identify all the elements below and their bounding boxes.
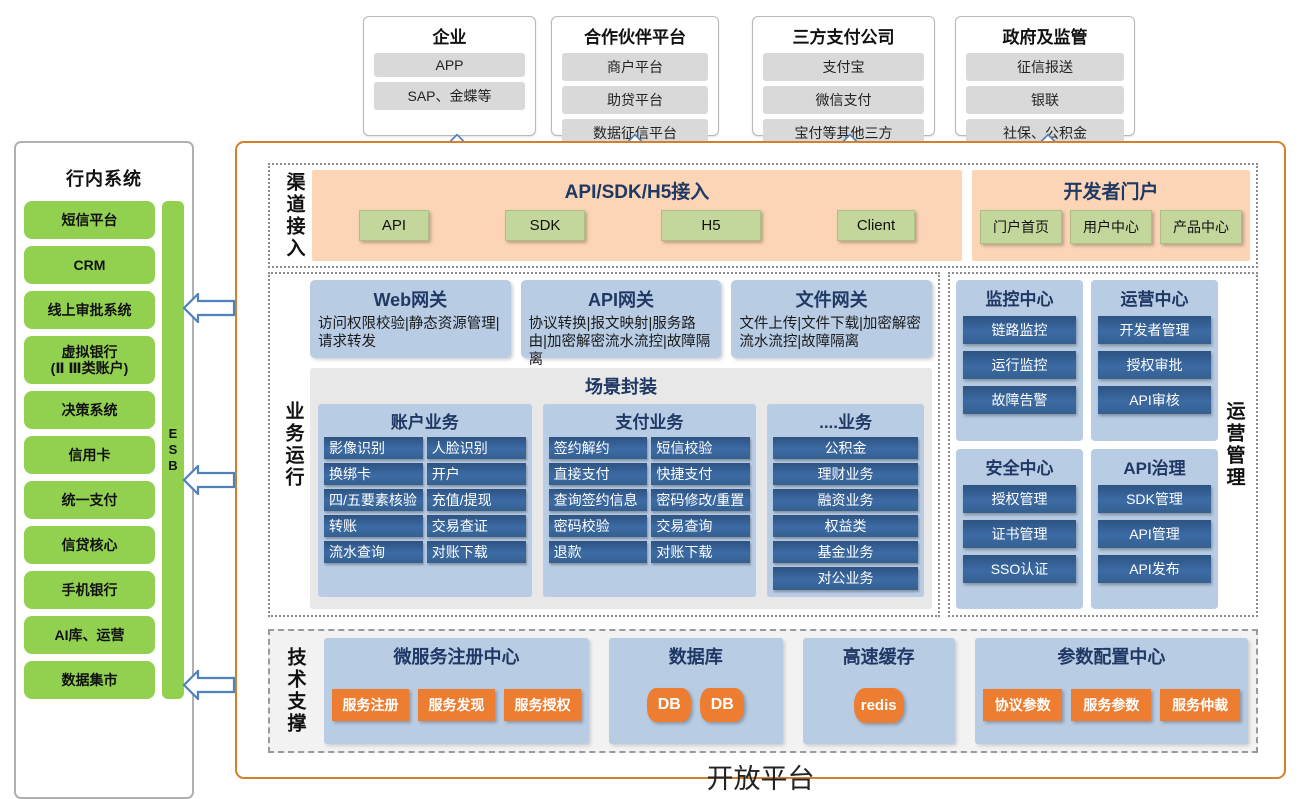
- database-pill-1-0[interactable]: DB: [647, 688, 691, 722]
- portal-chip-2[interactable]: 产品中心: [1160, 210, 1242, 244]
- business-chip-0-0[interactable]: 影像识别: [324, 437, 423, 459]
- external-title-2: 三方支付公司: [763, 23, 924, 48]
- operations-chip-1-0[interactable]: 开发者管理: [1098, 316, 1211, 344]
- tech-card-title-0: 微服务注册中心: [332, 643, 581, 669]
- sidebar-item-6[interactable]: 统一支付: [24, 481, 155, 519]
- business-chip-0-4[interactable]: 四/五要素核验: [324, 489, 423, 511]
- external-item-3-0[interactable]: 征信报送: [966, 53, 1124, 81]
- esb-platform-arrow-1: [182, 293, 236, 323]
- business-card-0[interactable]: 账户业务影像识别人脸识别换绑卡开户四/五要素核验充值/提现转账交易查证流水查询对…: [318, 404, 532, 597]
- business-chip-2-0[interactable]: 公积金: [773, 437, 918, 459]
- channel-chip-sdk[interactable]: SDK: [505, 210, 585, 241]
- operations-management-label: 运营管理: [1225, 401, 1244, 489]
- external-item-1-0[interactable]: 商户平台: [562, 53, 708, 81]
- tech-chip-row-2: redis: [811, 675, 947, 735]
- gateway-card-1[interactable]: API网关协议转换|报文映射|服务路由|加密解密流水流控|故障隔离: [521, 280, 722, 358]
- business-chip-0-3[interactable]: 开户: [427, 463, 526, 485]
- tech-chip-3-2[interactable]: 服务仲裁: [1160, 689, 1240, 721]
- sidebar-title: 行内系统: [16, 165, 192, 191]
- redis-pill-2-0[interactable]: redis: [854, 688, 904, 723]
- gateway-card-0[interactable]: Web网关访问权限校验|静态资源管理|请求转发: [310, 280, 511, 358]
- tech-card-title-2: 高速缓存: [811, 643, 947, 669]
- gateway-title-0: Web网关: [318, 286, 503, 312]
- platform-title: 开放平台: [235, 757, 1286, 796]
- operations-chip-2-1[interactable]: 证书管理: [963, 520, 1076, 548]
- business-chip-1-6[interactable]: 密码校验: [549, 515, 648, 537]
- business-card-title-1: 支付业务: [549, 408, 751, 433]
- operations-chip-0-1[interactable]: 运行监控: [963, 351, 1076, 379]
- esb-letter: S: [169, 442, 178, 458]
- technical-support-section: 技术支撑 微服务注册中心服务注册服务发现服务授权数据库DBDB高速缓存redis…: [268, 629, 1258, 753]
- esb-platform-arrow-3: [182, 670, 236, 700]
- tech-chip-0-2[interactable]: 服务授权: [504, 689, 581, 721]
- operations-card-2[interactable]: 安全中心授权管理证书管理SSO认证: [956, 449, 1083, 610]
- business-chip-1-2[interactable]: 直接支付: [549, 463, 648, 485]
- operations-card-title-2: 安全中心: [963, 454, 1076, 479]
- gateway-card-2[interactable]: 文件网关文件上传|文件下载|加密解密流水流控|故障隔离: [731, 280, 932, 358]
- internal-systems-sidebar: 行内系统 短信平台CRM线上审批系统虚拟银行(Ⅱ Ⅲ类账户)决策系统信用卡统一支…: [14, 141, 194, 799]
- gateway-row: Web网关访问权限校验|静态资源管理|请求转发API网关协议转换|报文映射|服务…: [310, 280, 932, 358]
- operations-card-0[interactable]: 监控中心链路监控运行监控故障告警: [956, 280, 1083, 441]
- sidebar-item-3[interactable]: 虚拟银行(Ⅱ Ⅲ类账户): [24, 336, 155, 384]
- business-chip-2-1[interactable]: 理财业务: [773, 463, 918, 485]
- operations-card-title-0: 监控中心: [963, 285, 1076, 310]
- business-chip-1-1[interactable]: 短信校验: [651, 437, 750, 459]
- operations-chip-1-2[interactable]: API审核: [1098, 386, 1211, 414]
- channel-chip-h5[interactable]: H5: [661, 210, 761, 241]
- business-chip-2-5[interactable]: 对公业务: [773, 567, 918, 589]
- channel-chip-api[interactable]: API: [359, 210, 429, 241]
- operations-card-1[interactable]: 运营中心开发者管理授权审批API审核: [1091, 280, 1218, 441]
- tech-chip-3-1[interactable]: 服务参数: [1071, 689, 1151, 721]
- api-sdk-h5-access-panel: API/SDK/H5接入 APISDKH5Client: [312, 170, 962, 261]
- tech-card-1[interactable]: 数据库DBDB: [609, 638, 783, 744]
- channel-access-section: 渠道接入 API/SDK/H5接入 APISDKH5Client 开发者门户 门…: [268, 163, 1258, 268]
- business-card-title-0: 账户业务: [324, 408, 526, 433]
- business-chip-0-5[interactable]: 充值/提现: [427, 489, 526, 511]
- business-chip-1-3[interactable]: 快捷支付: [651, 463, 750, 485]
- channel-chip-client[interactable]: Client: [837, 210, 915, 241]
- sidebar-item-8[interactable]: 手机银行: [24, 571, 155, 609]
- esb-bus: ESB: [162, 201, 184, 699]
- sidebar-item-1[interactable]: CRM: [24, 246, 155, 284]
- tech-card-0[interactable]: 微服务注册中心服务注册服务发现服务授权: [324, 638, 589, 744]
- external-item-3-1[interactable]: 银联: [966, 86, 1124, 114]
- business-chip-0-9[interactable]: 对账下载: [427, 541, 526, 563]
- operations-chip-1-1[interactable]: 授权审批: [1098, 351, 1211, 379]
- business-chip-0-7[interactable]: 交易查证: [427, 515, 526, 537]
- sidebar-item-9[interactable]: AI库、运营: [24, 616, 155, 654]
- tech-chip-row-1: DBDB: [617, 675, 775, 735]
- business-chip-0-1[interactable]: 人脸识别: [427, 437, 526, 459]
- channel-access-chip-row: APISDKH5Client: [312, 204, 962, 241]
- business-operation-section: 业务运行 Web网关访问权限校验|静态资源管理|请求转发API网关协议转换|报文…: [268, 272, 940, 617]
- operations-chip-3-2[interactable]: API发布: [1098, 555, 1211, 583]
- tech-chip-row-3: 协议参数服务参数服务仲裁: [983, 675, 1240, 735]
- external-item-2-0[interactable]: 支付宝: [763, 53, 924, 81]
- external-item-2-1[interactable]: 微信支付: [763, 86, 924, 114]
- business-card-title-2: ....业务: [773, 408, 918, 433]
- scenario-encapsulation-panel: 场景封装 账户业务影像识别人脸识别换绑卡开户四/五要素核验充值/提现转账交易查证…: [310, 368, 932, 609]
- business-chip-1-4[interactable]: 查询签约信息: [549, 489, 648, 511]
- scenario-card-row: 账户业务影像识别人脸识别换绑卡开户四/五要素核验充值/提现转账交易查证流水查询对…: [310, 399, 932, 605]
- operations-chip-3-0[interactable]: SDK管理: [1098, 485, 1211, 513]
- external-title-3: 政府及监管: [966, 23, 1124, 48]
- external-entity-partner-platform: 合作伙伴平台商户平台助贷平台数据征信平台: [551, 16, 719, 136]
- business-operation-label: 业务运行: [284, 401, 303, 489]
- technical-support-card-row: 微服务注册中心服务注册服务发现服务授权数据库DBDB高速缓存redis参数配置中…: [324, 638, 1248, 744]
- business-chip-grid-0: 影像识别人脸识别换绑卡开户四/五要素核验充值/提现转账交易查证流水查询对账下载: [324, 437, 526, 563]
- gateway-desc-0: 访问权限校验|静态资源管理|请求转发: [318, 315, 503, 351]
- business-chip-1-8[interactable]: 退款: [549, 541, 648, 563]
- esb-letter: B: [168, 458, 177, 474]
- business-chip-2-3[interactable]: 权益类: [773, 515, 918, 537]
- external-title-0: 企业: [374, 23, 525, 48]
- tech-chip-0-1[interactable]: 服务发现: [418, 689, 495, 721]
- tech-chip-3-0[interactable]: 协议参数: [983, 689, 1063, 721]
- portal-chip-0[interactable]: 门户首页: [980, 210, 1062, 244]
- tech-card-2[interactable]: 高速缓存redis: [803, 638, 955, 744]
- business-chip-1-9[interactable]: 对账下载: [651, 541, 750, 563]
- external-entity-third-party-payment: 三方支付公司支付宝微信支付宝付等其他三方: [752, 16, 935, 136]
- sidebar-item-10[interactable]: 数据集市: [24, 661, 155, 699]
- business-card-2[interactable]: ....业务公积金理财业务融资业务权益类基金业务对公业务: [767, 404, 924, 597]
- sidebar-item-list: 短信平台CRM线上审批系统虚拟银行(Ⅱ Ⅲ类账户)决策系统信用卡统一支付信贷核心…: [24, 201, 155, 699]
- gateway-title-2: 文件网关: [739, 286, 924, 312]
- external-entity-enterprise: 企业APPSAP、金蝶等: [363, 16, 536, 136]
- developer-portal-panel: 开发者门户 门户首页用户中心产品中心: [972, 170, 1250, 261]
- external-entity-government-regulator: 政府及监管征信报送银联社保、公积金: [955, 16, 1135, 136]
- tech-chip-0-0[interactable]: 服务注册: [332, 689, 409, 721]
- operations-card-grid: 监控中心链路监控运行监控故障告警运营中心开发者管理授权审批API审核安全中心授权…: [956, 280, 1218, 609]
- operations-chip-0-0[interactable]: 链路监控: [963, 316, 1076, 344]
- technical-support-label: 技术支撑: [286, 647, 305, 735]
- channel-access-label: 渠道接入: [285, 172, 304, 260]
- external-item-0-1[interactable]: SAP、金蝶等: [374, 82, 525, 110]
- business-chip-2-2[interactable]: 融资业务: [773, 489, 918, 511]
- gateway-desc-2: 文件上传|文件下载|加密解密流水流控|故障隔离: [739, 315, 924, 351]
- business-chip-0-2[interactable]: 换绑卡: [324, 463, 423, 485]
- api-sdk-h5-access-title: API/SDK/H5接入: [312, 170, 962, 204]
- business-chip-grid-1: 签约解约短信校验直接支付快捷支付查询签约信息密码修改/重置密码校验交易查询退款对…: [549, 437, 751, 563]
- business-card-1[interactable]: 支付业务签约解约短信校验直接支付快捷支付查询签约信息密码修改/重置密码校验交易查…: [543, 404, 757, 597]
- tech-card-title-1: 数据库: [617, 643, 775, 669]
- external-title-1: 合作伙伴平台: [562, 23, 708, 48]
- developer-portal-title: 开发者门户: [972, 170, 1250, 204]
- operations-chip-2-0[interactable]: 授权管理: [963, 485, 1076, 513]
- esb-letter: E: [169, 426, 178, 442]
- sidebar-item-5[interactable]: 信用卡: [24, 436, 155, 474]
- external-item-0-0[interactable]: APP: [374, 53, 525, 77]
- operations-chip-2-2[interactable]: SSO认证: [963, 555, 1076, 583]
- business-chip-grid-2: 公积金理财业务融资业务权益类基金业务对公业务: [773, 437, 918, 590]
- operations-card-title-1: 运营中心: [1098, 285, 1211, 310]
- business-chip-1-0[interactable]: 签约解约: [549, 437, 648, 459]
- tech-chip-row-0: 服务注册服务发现服务授权: [332, 675, 581, 735]
- sidebar-item-2[interactable]: 线上审批系统: [24, 291, 155, 329]
- operations-chip-0-2[interactable]: 故障告警: [963, 386, 1076, 414]
- tech-card-3[interactable]: 参数配置中心协议参数服务参数服务仲裁: [975, 638, 1248, 744]
- sidebar-item-7[interactable]: 信贷核心: [24, 526, 155, 564]
- tech-card-title-3: 参数配置中心: [983, 643, 1240, 669]
- gateway-desc-1: 协议转换|报文映射|服务路由|加密解密流水流控|故障隔离: [529, 315, 714, 369]
- scenario-encapsulation-title: 场景封装: [310, 368, 932, 399]
- business-chip-1-5[interactable]: 密码修改/重置: [651, 489, 750, 511]
- business-chip-2-4[interactable]: 基金业务: [773, 541, 918, 563]
- sidebar-item-0[interactable]: 短信平台: [24, 201, 155, 239]
- operations-card-title-3: API治理: [1098, 454, 1211, 479]
- sidebar-item-4[interactable]: 决策系统: [24, 391, 155, 429]
- operations-management-section: 监控中心链路监控运行监控故障告警运营中心开发者管理授权审批API审核安全中心授权…: [948, 272, 1258, 617]
- business-chip-0-6[interactable]: 转账: [324, 515, 423, 537]
- portal-chip-1[interactable]: 用户中心: [1070, 210, 1152, 244]
- developer-portal-chip-row: 门户首页用户中心产品中心: [972, 204, 1250, 244]
- operations-card-3[interactable]: API治理SDK管理API管理API发布: [1091, 449, 1218, 610]
- business-chip-1-7[interactable]: 交易查询: [651, 515, 750, 537]
- external-item-1-1[interactable]: 助贷平台: [562, 86, 708, 114]
- database-pill-1-1[interactable]: DB: [700, 688, 744, 722]
- operations-chip-3-1[interactable]: API管理: [1098, 520, 1211, 548]
- business-chip-0-8[interactable]: 流水查询: [324, 541, 423, 563]
- gateway-title-1: API网关: [529, 286, 714, 312]
- esb-platform-arrow-2: [182, 465, 236, 495]
